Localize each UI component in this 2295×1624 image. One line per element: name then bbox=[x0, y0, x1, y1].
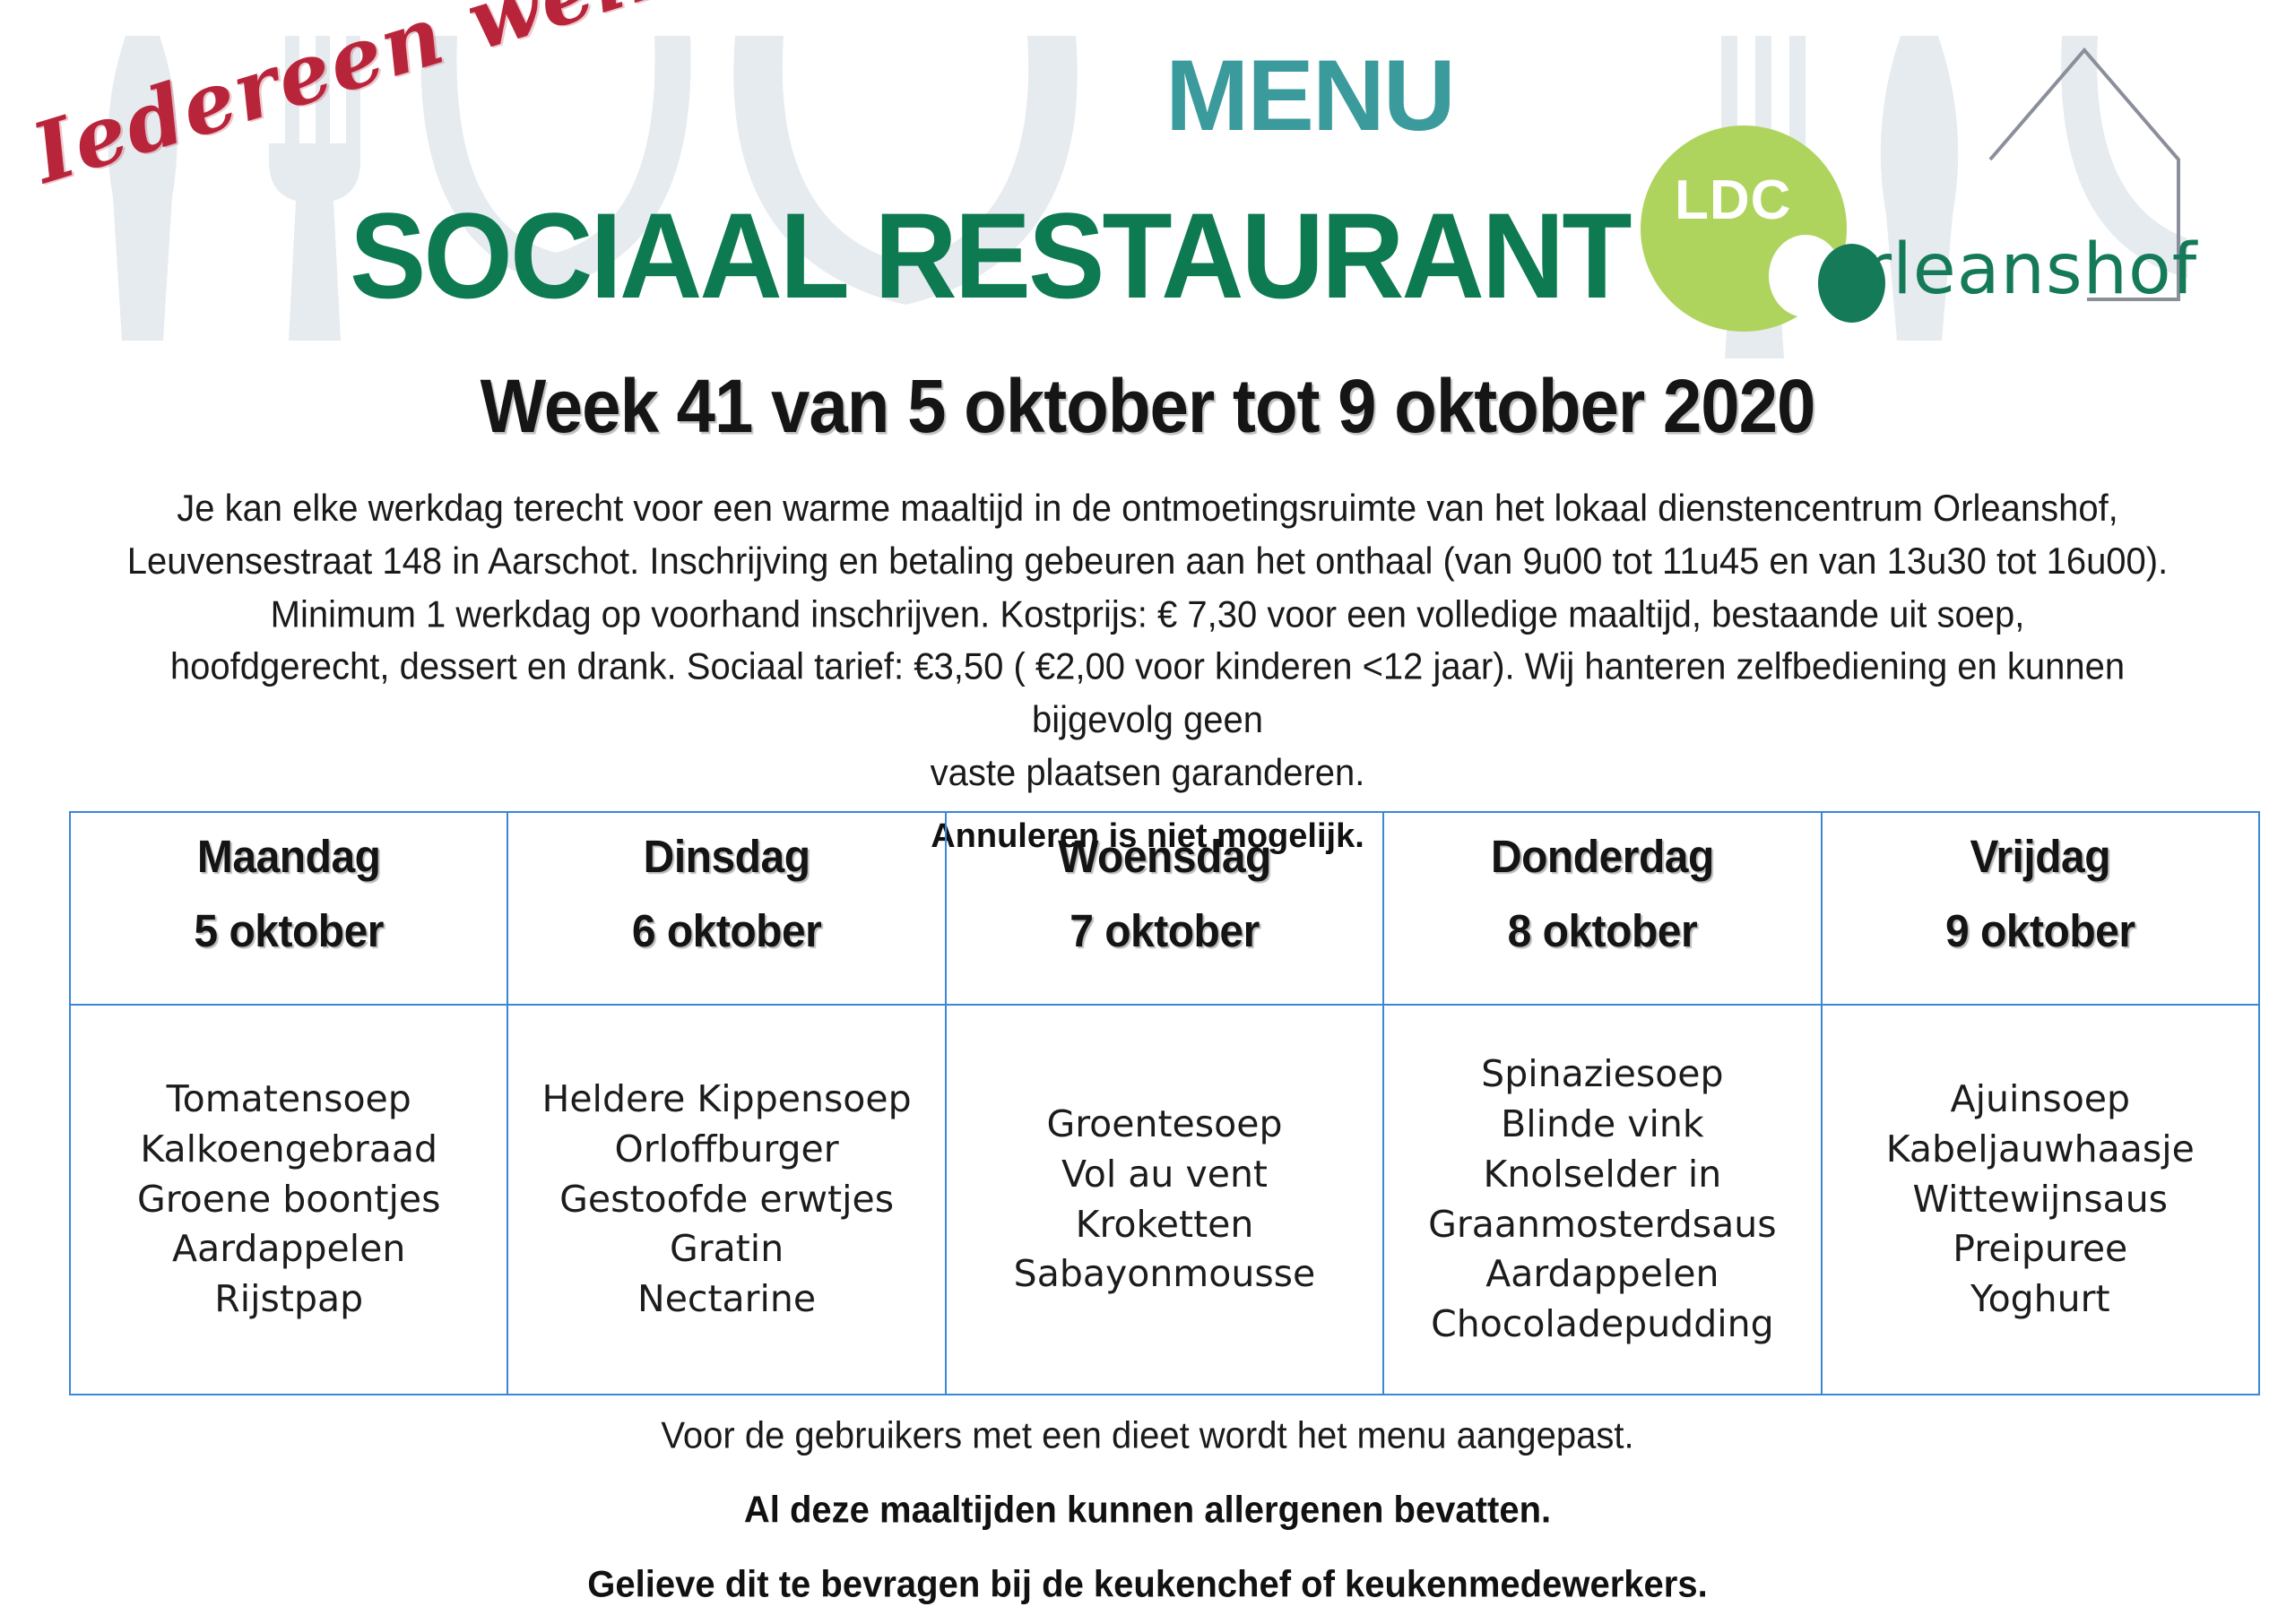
dish-item: Blinde vink bbox=[1391, 1100, 1813, 1150]
dish-item: Heldere Kippensoep bbox=[515, 1075, 937, 1125]
day-date-label: 9 oktober bbox=[1823, 905, 2258, 957]
dish-item: Aardappelen bbox=[1391, 1249, 1813, 1300]
dish-item: Vol au vent bbox=[954, 1150, 1375, 1200]
intro-line-3: Minimum 1 werkdag op voorhand inschrijve… bbox=[103, 588, 2192, 641]
menu-cell-friday: AjuinsoepKabeljauwhaasjeWittewijnsausPre… bbox=[1822, 1005, 2259, 1395]
day-date-label: 6 oktober bbox=[508, 905, 944, 957]
dish-item: Groene boontjes bbox=[78, 1175, 499, 1225]
dish-item: Gratin bbox=[515, 1224, 937, 1274]
day-header-monday: Maandag 5 oktober bbox=[70, 812, 507, 1005]
intro-line-4: hoofdgerecht, dessert en drank. Sociaal … bbox=[103, 641, 2192, 747]
intro-paragraph: Je kan elke werkdag terecht voor een war… bbox=[103, 482, 2192, 799]
dish-item: Wittewijnsaus bbox=[1830, 1175, 2251, 1225]
ldc-orleanshof-logo: LDC rleanshof bbox=[1623, 72, 2286, 341]
allergen-note: Al deze maaltijden kunnen allergenen bev… bbox=[0, 1490, 2295, 1532]
dish-item: Nectarine bbox=[515, 1274, 937, 1325]
dish-list: Heldere KippensoepOrloffburgerGestoofde … bbox=[515, 1075, 937, 1325]
dish-item: Aardappelen bbox=[78, 1224, 499, 1274]
diet-note: Voor de gebruikers met een dieet wordt h… bbox=[0, 1415, 2295, 1457]
day-date-label: 7 oktober bbox=[947, 905, 1382, 957]
dish-list: GroentesoepVol au ventKrokettenSabayonmo… bbox=[954, 1100, 1375, 1300]
dish-list: TomatensoepKalkoengebraadGroene boontjes… bbox=[78, 1075, 499, 1325]
allergen-contact-note: Gelieve dit te bevragen bij de keukenche… bbox=[0, 1564, 2295, 1606]
weekly-menu-table: Maandag 5 oktober Dinsdag 6 oktober Woen… bbox=[69, 811, 2260, 1395]
dish-item: Kroketten bbox=[954, 1200, 1375, 1250]
footer-notes: Voor de gebruikers met een dieet wordt h… bbox=[0, 1416, 2295, 1605]
menu-cell-monday: TomatensoepKalkoengebraadGroene boontjes… bbox=[70, 1005, 507, 1395]
day-header-friday: Vrijdag 9 oktober bbox=[1822, 812, 2259, 1005]
menu-cell-thursday: SpinaziesoepBlinde vinkKnolselder inGraa… bbox=[1383, 1005, 1821, 1395]
dish-item: Kalkoengebraad bbox=[78, 1125, 499, 1175]
dish-item: Yoghurt bbox=[1830, 1274, 2251, 1325]
intro-line-1: Je kan elke werkdag terecht voor een war… bbox=[103, 482, 2192, 535]
dish-item: Rijstpap bbox=[78, 1274, 499, 1325]
dish-list: AjuinsoepKabeljauwhaasjeWittewijnsausPre… bbox=[1830, 1075, 2251, 1325]
intro-line-2: Leuvensestraat 148 in Aarschot. Inschrij… bbox=[103, 535, 2192, 588]
dish-item: Sabayonmousse bbox=[954, 1249, 1375, 1300]
dish-item: Chocoladepudding bbox=[1391, 1300, 1813, 1350]
day-date-label: 5 oktober bbox=[71, 905, 507, 957]
dish-item: Ajuinsoep bbox=[1830, 1075, 2251, 1125]
restaurant-heading: SOCIAAL RESTAURANT bbox=[350, 186, 1630, 326]
day-name-label: Maandag bbox=[71, 831, 507, 883]
dish-item: Tomatensoep bbox=[78, 1075, 499, 1125]
header-banner: Iedereen welkom! MENU SOCIAAL RESTAURANT… bbox=[0, 0, 2295, 358]
dish-item: Knolselder in bbox=[1391, 1150, 1813, 1200]
menu-cell-wednesday: GroentesoepVol au ventKrokettenSabayonmo… bbox=[946, 1005, 1383, 1395]
day-name-label: Donderdag bbox=[1384, 831, 1820, 883]
intro-line-5: vaste plaatsen garanderen. bbox=[103, 747, 2192, 800]
logo-orleanshof-text: rleanshof bbox=[1863, 229, 2197, 310]
dish-item: Orloffburger bbox=[515, 1125, 937, 1175]
logo-ldc-text: LDC bbox=[1675, 168, 1791, 232]
dish-item: Preipuree bbox=[1830, 1224, 2251, 1274]
day-date-label: 8 oktober bbox=[1384, 905, 1820, 957]
dish-list: SpinaziesoepBlinde vinkKnolselder inGraa… bbox=[1391, 1050, 1813, 1350]
dish-item: Graanmosterdsaus bbox=[1391, 1200, 1813, 1250]
table-header-row: Maandag 5 oktober Dinsdag 6 oktober Woen… bbox=[70, 812, 2259, 1005]
day-name-label: Vrijdag bbox=[1823, 831, 2258, 883]
menu-heading: MENU bbox=[1165, 38, 1454, 153]
page-title: Week 41 van 5 oktober tot 9 oktober 2020 bbox=[0, 362, 2295, 450]
menu-cell-tuesday: Heldere KippensoepOrloffburgerGestoofde … bbox=[507, 1005, 945, 1395]
day-header-tuesday: Dinsdag 6 oktober bbox=[507, 812, 945, 1005]
day-name-label: Woensdag bbox=[947, 831, 1382, 883]
dish-item: Spinaziesoep bbox=[1391, 1050, 1813, 1100]
dish-item: Kabeljauwhaasje bbox=[1830, 1125, 2251, 1175]
day-header-wednesday: Woensdag 7 oktober bbox=[946, 812, 1383, 1005]
dish-item: Gestoofde erwtjes bbox=[515, 1175, 937, 1225]
table-menu-row: TomatensoepKalkoengebraadGroene boontjes… bbox=[70, 1005, 2259, 1395]
day-name-label: Dinsdag bbox=[508, 831, 944, 883]
dish-item: Groentesoep bbox=[954, 1100, 1375, 1150]
day-header-thursday: Donderdag 8 oktober bbox=[1383, 812, 1821, 1005]
